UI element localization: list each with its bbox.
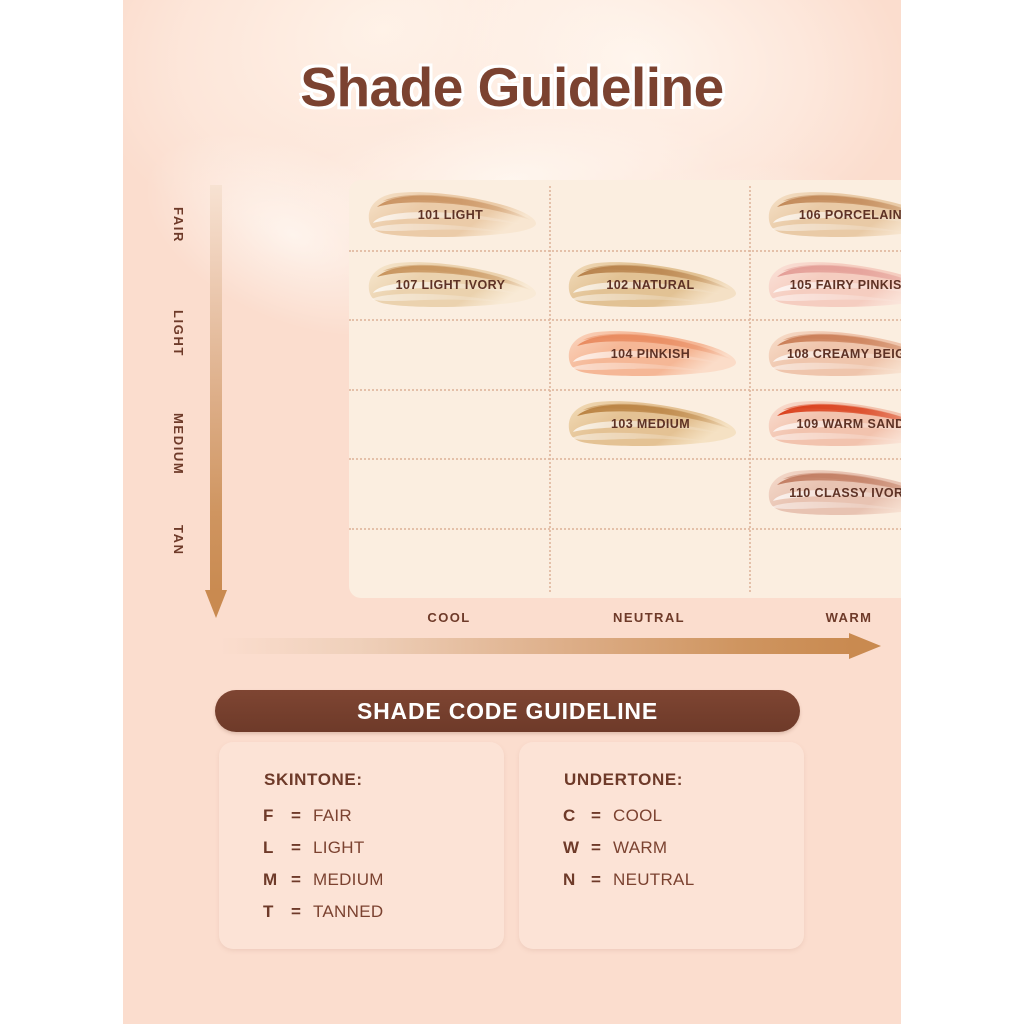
legend-equals: = — [291, 806, 313, 826]
undertone-label-warm: WARM — [749, 610, 901, 625]
skintone-label-fair: FAIR — [171, 207, 186, 243]
undertone-rows: C=COOLW=WARMN=NEUTRAL — [563, 806, 694, 902]
legend-equals: = — [591, 870, 613, 890]
skintone-rows: F=FAIRL=LIGHTM=MEDIUMT=TANNED — [263, 806, 384, 934]
shade-label: 110 CLASSY IVORY — [789, 486, 901, 500]
shade-label: 103 MEDIUM — [611, 417, 690, 431]
shade-label: 106 PORCELAIN — [799, 208, 901, 222]
skintone-heading: SKINTONE: — [264, 770, 363, 790]
undertone-axis-arrow — [219, 633, 881, 659]
shade-label: 107 LIGHT IVORY — [396, 278, 506, 292]
legend-row: T=TANNED — [263, 902, 384, 934]
grid-column-separator — [749, 186, 751, 592]
shade-label: 104 PINKISH — [611, 347, 690, 361]
grid-row-separator — [349, 458, 901, 460]
grid-row-separator — [349, 319, 901, 321]
legend-value: NEUTRAL — [613, 870, 694, 890]
shade-matrix: FAIRLIGHTMEDIUMTAN 101 LIGHT — [171, 185, 881, 645]
grid-column-separator — [549, 186, 551, 592]
undertone-heading: UNDERTONE: — [564, 770, 683, 790]
undertone-label-cool: COOL — [349, 610, 549, 625]
legend-code: L — [263, 838, 291, 858]
undertone-label-neutral: NEUTRAL — [549, 610, 749, 625]
legend-row: C=COOL — [563, 806, 694, 838]
skintone-arrow-shaft — [210, 185, 222, 595]
legend-code: M — [263, 870, 291, 890]
legend-equals: = — [591, 806, 613, 826]
undertone-legend-card: UNDERTONE: C=COOLW=WARMN=NEUTRAL — [519, 742, 804, 949]
legend-value: TANNED — [313, 902, 383, 922]
legend-equals: = — [291, 870, 313, 890]
skintone-axis-labels: FAIRLIGHTMEDIUMTAN — [171, 185, 201, 600]
skintone-axis-arrow — [205, 185, 227, 635]
shade-swatch-101[interactable]: 101 LIGHT — [363, 187, 538, 243]
skintone-arrow-head — [205, 590, 227, 618]
skintone-label-tan: TAN — [171, 525, 186, 556]
legend-equals: = — [291, 902, 313, 922]
legend-code: W — [563, 838, 591, 858]
poster-canvas: Shade Guideline FAIRLIGHTMEDIUMTAN 101 — [123, 0, 901, 1024]
legend-code: T — [263, 902, 291, 922]
legend-row: N=NEUTRAL — [563, 870, 694, 902]
legend-value: MEDIUM — [313, 870, 384, 890]
legend-value: LIGHT — [313, 838, 365, 858]
shade-swatch-103[interactable]: 103 MEDIUM — [563, 396, 738, 452]
legend-code: N — [563, 870, 591, 890]
undertone-arrow-head — [849, 633, 881, 659]
shade-swatch-107[interactable]: 107 LIGHT IVORY — [363, 257, 538, 313]
legend-value: FAIR — [313, 806, 352, 826]
grid-row-separator — [349, 250, 901, 252]
shade-code-banner: SHADE CODE GUIDELINE — [215, 690, 800, 732]
page-title: Shade Guideline — [123, 55, 901, 119]
shade-swatch-104[interactable]: 104 PINKISH — [563, 326, 738, 382]
shade-swatch-105[interactable]: 105 FAIRY PINKISH — [763, 257, 901, 313]
skintone-legend-card: SKINTONE: F=FAIRL=LIGHTM=MEDIUMT=TANNED — [219, 742, 504, 949]
skintone-label-medium: MEDIUM — [171, 413, 186, 475]
grid-row-separator — [349, 389, 901, 391]
legend-code: F — [263, 806, 291, 826]
legend-value: WARM — [613, 838, 667, 858]
shade-swatch-110[interactable]: 110 CLASSY IVORY — [763, 465, 901, 521]
shade-swatch-106[interactable]: 106 PORCELAIN — [763, 187, 901, 243]
legend-row: W=WARM — [563, 838, 694, 870]
shade-label: 101 LIGHT — [418, 208, 483, 222]
shade-label: 105 FAIRY PINKISH — [790, 278, 901, 292]
shade-label: 108 CREAMY BEIGE — [787, 347, 901, 361]
legend-row: L=LIGHT — [263, 838, 384, 870]
undertone-arrow-shaft — [219, 638, 853, 654]
skintone-label-light: LIGHT — [171, 310, 186, 357]
legend-value: COOL — [613, 806, 662, 826]
legend-code: C — [563, 806, 591, 826]
legend-equals: = — [291, 838, 313, 858]
shade-label: 102 NATURAL — [606, 278, 694, 292]
grid-row-separator — [349, 528, 901, 530]
legend-equals: = — [591, 838, 613, 858]
shade-swatch-108[interactable]: 108 CREAMY BEIGE — [763, 326, 901, 382]
shade-grid-panel: 101 LIGHT 106 PORCELAIN — [349, 180, 901, 598]
shade-label: 109 WARM SAND — [797, 417, 902, 431]
shade-swatch-102[interactable]: 102 NATURAL — [563, 257, 738, 313]
legend-row: M=MEDIUM — [263, 870, 384, 902]
shade-code-banner-title: SHADE CODE GUIDELINE — [357, 698, 658, 725]
shade-swatch-109[interactable]: 109 WARM SAND — [763, 396, 901, 452]
legend-row: F=FAIR — [263, 806, 384, 838]
